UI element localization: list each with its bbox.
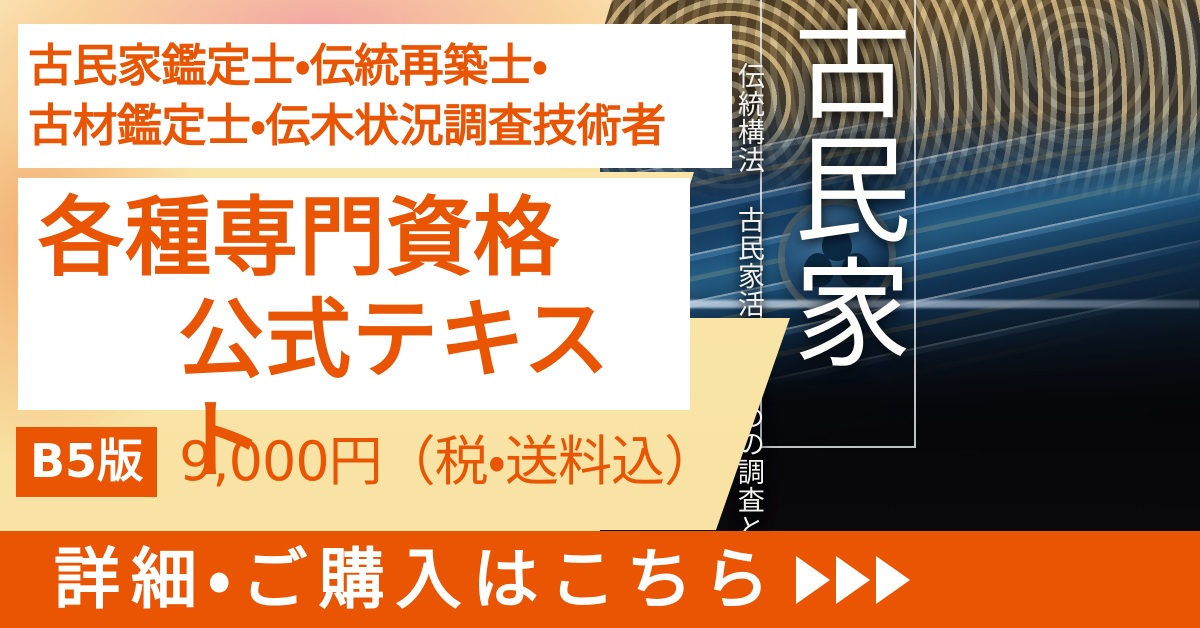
size-badge: B5版 xyxy=(16,427,157,497)
chevron-right-icon xyxy=(836,556,870,604)
cta-arrows xyxy=(796,556,910,604)
chevron-right-icon xyxy=(796,556,830,604)
headline-panel: 各種専門資格 公式テキスト xyxy=(18,178,690,410)
headline-line-1: 各種専門資格 xyxy=(38,188,560,289)
price-row: B5版 9,000円（税・送料込） xyxy=(16,428,717,496)
cta-bar[interactable]: 詳細・ご購入はこちら xyxy=(0,531,1200,628)
price-text: 9,000円（税・送料込） xyxy=(179,435,717,489)
chevron-right-icon xyxy=(876,556,910,604)
certifications-line-2: 古材鑑定士・伝木状況調査技術者 xyxy=(28,99,666,152)
certifications-line-1: 古民家鑑定士・伝統再築士・ xyxy=(28,39,547,92)
certifications-panel: 古民家鑑定士・伝統再築士・古材鑑定士・伝木状況調査技術者 xyxy=(18,24,732,168)
certifications-text: 古民家鑑定士・伝統再築士・古材鑑定士・伝木状況調査技術者 xyxy=(28,36,728,156)
promo-banner: 伝統構法 古民家活用のための調査と再生の 古民家 古民家鑑定士・伝統再築士・古材… xyxy=(0,0,1200,628)
cta-label: 詳細・ご購入はこちら xyxy=(54,547,780,613)
